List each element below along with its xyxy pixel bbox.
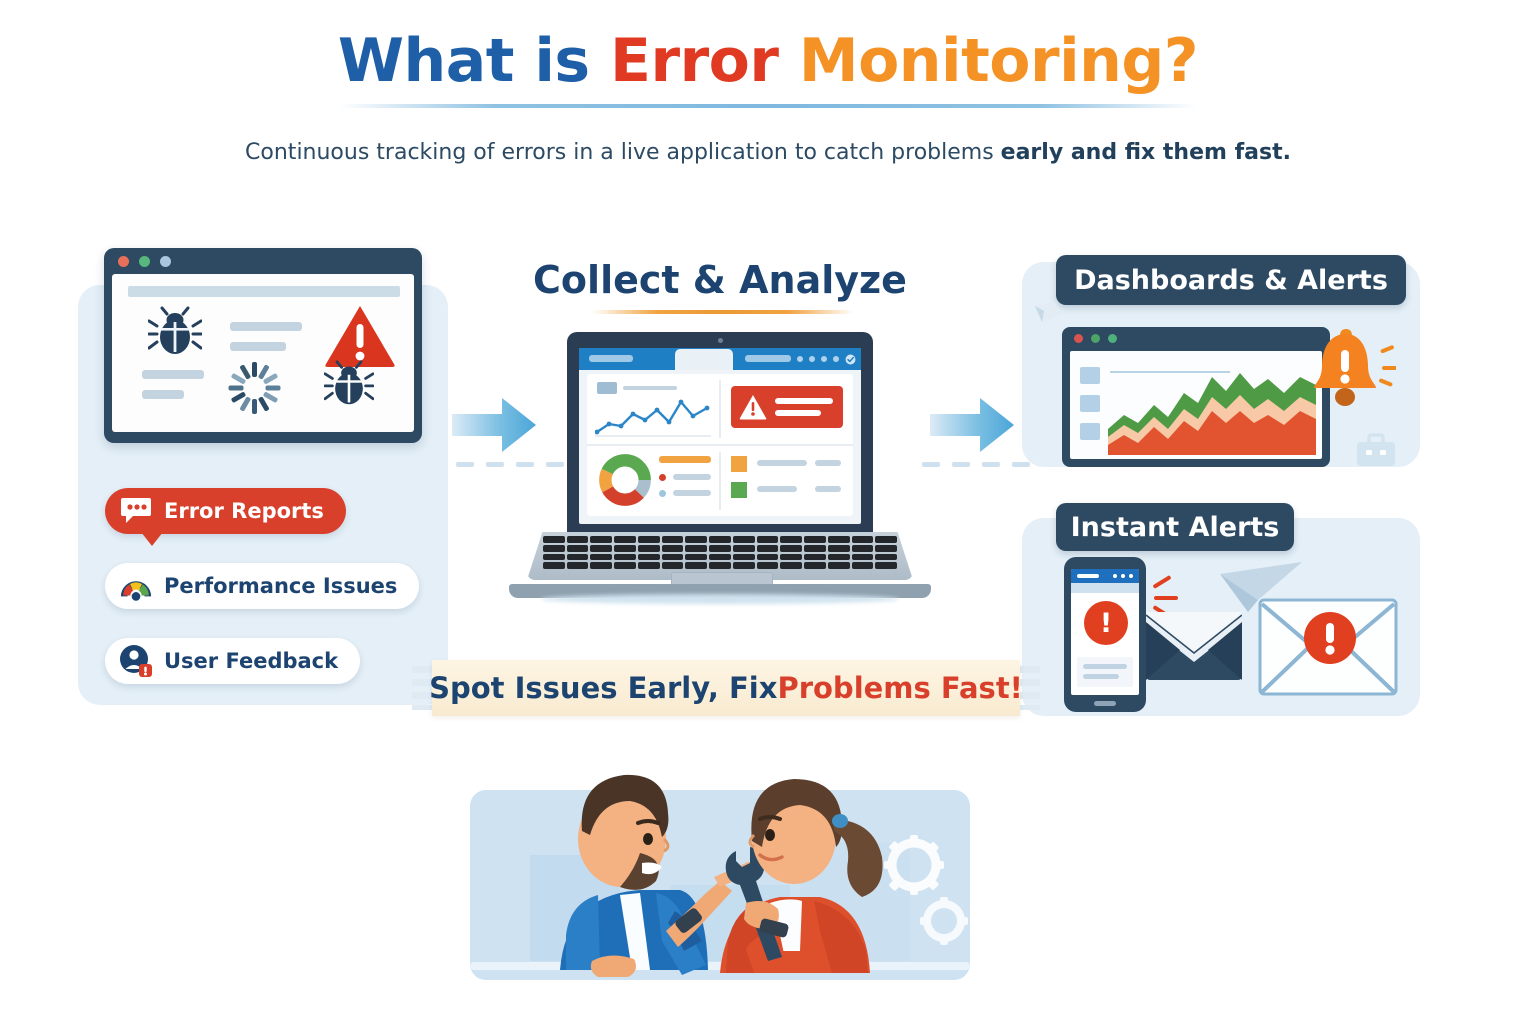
chart-legend-swatch xyxy=(597,382,617,394)
bug-icon xyxy=(324,360,374,408)
chip-label: Performance Issues xyxy=(164,574,397,598)
envelope-dark-icon xyxy=(1146,612,1242,680)
chip-error-reports[interactable]: Error Reports xyxy=(105,488,346,534)
chip-user-feedback[interactable]: User Feedback xyxy=(105,638,360,684)
window-close-dot[interactable] xyxy=(118,256,129,267)
list-row xyxy=(673,474,711,480)
list-row xyxy=(757,460,807,466)
laptop-base xyxy=(505,532,935,604)
chip-performance-issues[interactable]: Performance Issues xyxy=(105,563,419,609)
engineer-with-wrench xyxy=(720,779,883,973)
arrow-right-icon xyxy=(930,396,1014,459)
metric-bar xyxy=(659,456,711,463)
placeholder-line xyxy=(230,322,302,331)
laptop-shadow xyxy=(541,594,899,604)
address-bar[interactable] xyxy=(128,286,400,297)
banner-text-red: Problems Fast! xyxy=(777,671,1022,705)
flow-dashes xyxy=(922,462,1030,467)
user-alert-icon xyxy=(119,644,153,678)
document-icon xyxy=(1032,300,1066,330)
phone-screen: ! xyxy=(1071,569,1139,695)
subtitle-bold: early and fix them fast. xyxy=(1001,140,1291,165)
list-bullet xyxy=(659,474,666,481)
title-segment-what-is: What is xyxy=(338,26,610,96)
divider xyxy=(719,380,721,438)
browser-toolbar xyxy=(579,348,861,370)
list-bullet xyxy=(659,490,666,497)
title-segment-monitoring: Monitoring? xyxy=(799,26,1198,96)
infographic-canvas: What is Error Monitoring? Continuous tra… xyxy=(0,0,1536,1024)
divider xyxy=(719,452,721,510)
status-swatch-ok xyxy=(731,482,747,498)
loading-spinner-icon xyxy=(228,362,280,414)
laptop-device xyxy=(505,332,935,604)
browser-viewport xyxy=(112,274,414,432)
team-collaboration-illustration xyxy=(470,735,970,990)
dashboard-browser-window xyxy=(1062,327,1330,467)
list-row xyxy=(815,460,841,466)
home-button[interactable] xyxy=(1094,701,1116,706)
placeholder-line xyxy=(142,390,184,399)
chat-bubble-icon xyxy=(119,494,153,528)
window-close-dot[interactable] xyxy=(1074,334,1083,343)
bell-icon xyxy=(1310,328,1396,418)
placeholder-line xyxy=(142,370,204,379)
sidebar-block xyxy=(1080,395,1100,412)
title-divider xyxy=(340,104,1196,108)
center-heading: Collect & Analyze xyxy=(470,258,970,302)
keyboard-keys[interactable] xyxy=(543,536,897,569)
alert-badge-icon: ! xyxy=(1084,601,1128,645)
window-maximize-dot[interactable] xyxy=(1108,334,1117,343)
title-segment-error: Error xyxy=(610,26,799,96)
status-swatch-warning xyxy=(731,456,747,472)
placeholder-line xyxy=(230,342,286,351)
gauge-icon xyxy=(119,569,153,603)
dashboards-header: Dashboards & Alerts xyxy=(1056,255,1406,305)
briefcase-icon xyxy=(1355,432,1397,468)
phone-alert-icon: ! xyxy=(1064,557,1146,712)
sidebar-block xyxy=(1080,367,1100,384)
chart-title-placeholder xyxy=(623,386,677,390)
window-minimize-dot[interactable] xyxy=(1091,334,1100,343)
webcam-icon xyxy=(718,338,723,343)
callout-banner: Spot Issues Early, Fix Problems Fast! xyxy=(432,660,1020,716)
chip-label: Error Reports xyxy=(164,499,324,523)
laptop-screen xyxy=(579,348,861,524)
line-chart xyxy=(595,396,711,438)
window-minimize-dot[interactable] xyxy=(139,256,150,267)
error-alert-card[interactable] xyxy=(731,386,843,428)
list-row xyxy=(673,490,711,496)
sidebar-block xyxy=(1080,423,1100,440)
envelope-alert-icon xyxy=(1258,598,1398,696)
banner-text-dark: Spot Issues Early, Fix xyxy=(429,671,777,705)
phone-statusbar xyxy=(1071,569,1139,583)
divider xyxy=(587,444,853,446)
warning-triangle-icon xyxy=(739,394,767,420)
list-row xyxy=(757,486,797,492)
status-check-icon xyxy=(845,354,856,365)
instant-alerts-header: Instant Alerts xyxy=(1056,503,1294,551)
dashboard-content xyxy=(587,374,853,516)
page-subtitle: Continuous tracking of errors in a live … xyxy=(0,140,1536,165)
browser-titlebar xyxy=(104,248,422,274)
error-sources-browser-window xyxy=(104,248,422,443)
list-row xyxy=(815,486,841,492)
subtitle-normal: Continuous tracking of errors in a live … xyxy=(245,140,1001,165)
window-maximize-dot[interactable] xyxy=(160,256,171,267)
chip-label: User Feedback xyxy=(164,649,338,673)
stacked-area-chart xyxy=(1108,365,1316,455)
page-title: What is Error Monitoring? xyxy=(0,26,1536,96)
dashboard-viewport xyxy=(1070,351,1322,459)
bug-icon xyxy=(148,306,202,358)
center-heading-underline xyxy=(592,310,854,314)
browser-tab[interactable] xyxy=(675,349,733,370)
donut-chart xyxy=(599,454,651,506)
laptop-lid xyxy=(567,332,873,537)
